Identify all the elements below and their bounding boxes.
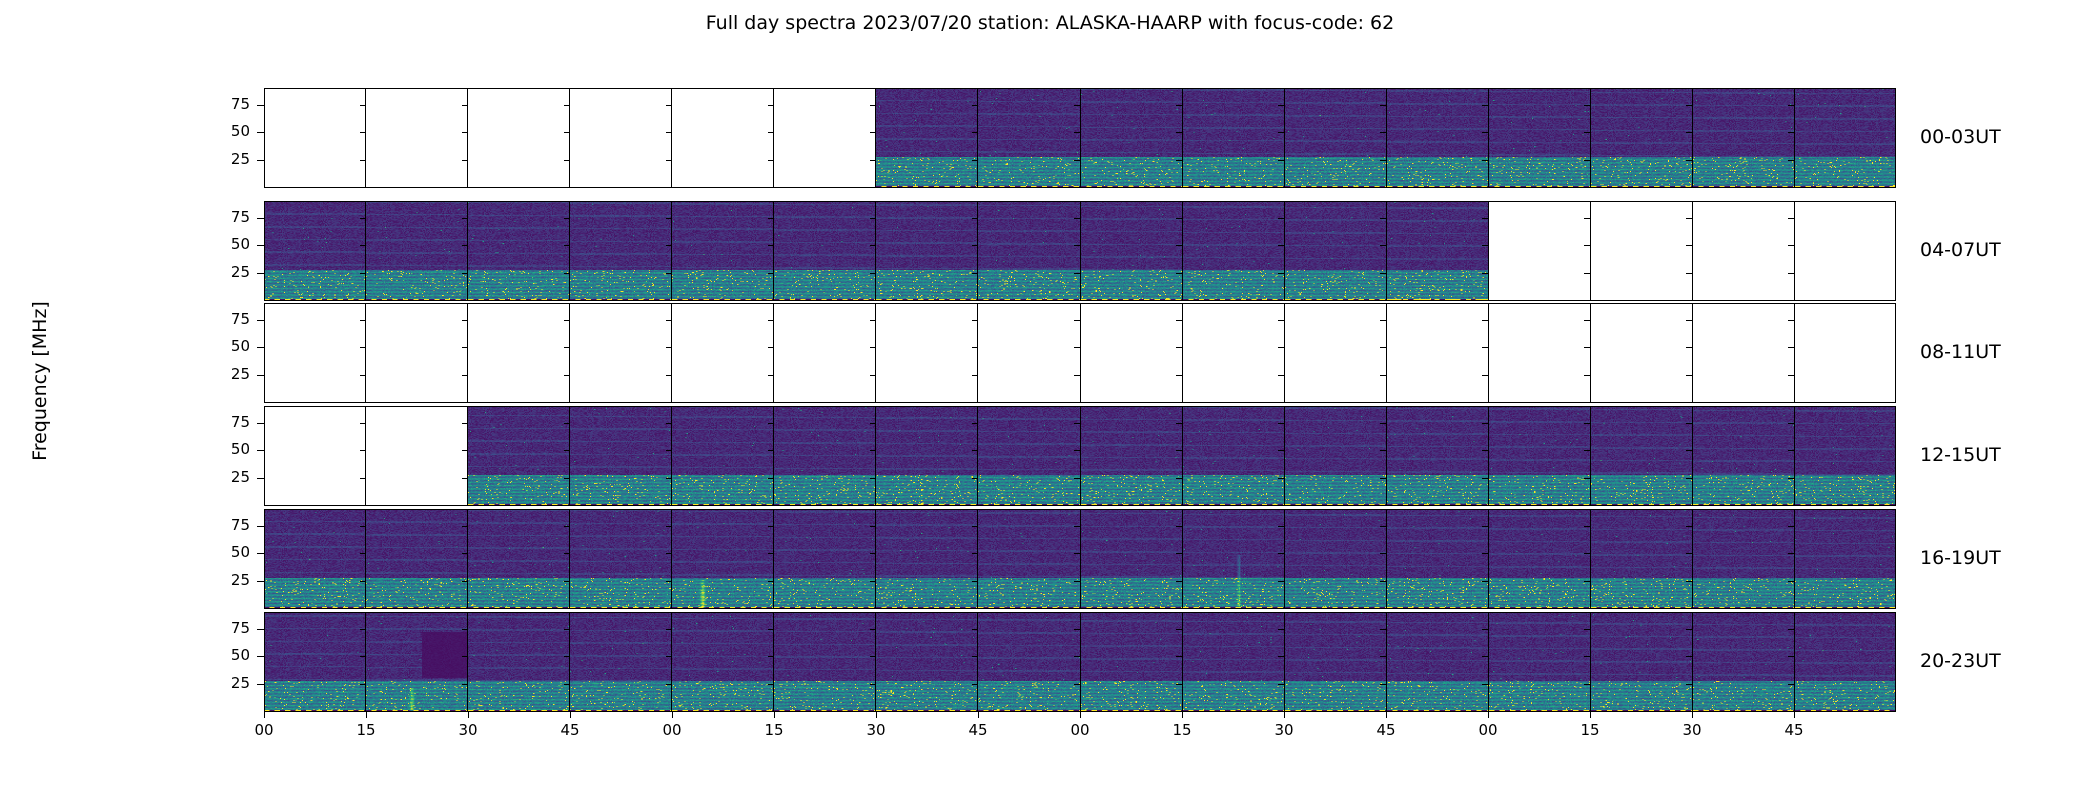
y-tick-mark [257, 684, 264, 685]
spectrogram-panel[interactable] [773, 612, 875, 712]
y-tick-mark-inner [1584, 218, 1590, 219]
y-tick-mark-inner [1278, 684, 1284, 685]
y-axis-label: Frequency [MHz] [29, 251, 51, 511]
y-tick-mark-inner [768, 160, 774, 161]
y-tick-label: 75 [206, 413, 250, 431]
y-tick-mark-inner [870, 320, 876, 321]
y-tick-label: 25 [206, 150, 250, 168]
x-tick-mark [876, 712, 877, 718]
y-tick-label: 50 [206, 122, 250, 140]
y-tick-mark-inner [462, 450, 468, 451]
x-tick-mark [1794, 712, 1795, 718]
y-tick-mark-inner [1380, 526, 1386, 527]
y-tick-label: 50 [206, 646, 250, 664]
x-tick-label: 00 [1478, 721, 1497, 739]
y-tick-mark-inner [360, 320, 366, 321]
y-tick-mark-inner [1074, 218, 1080, 219]
spectrogram-panel[interactable] [467, 509, 569, 609]
y-tick-mark-inner [1380, 160, 1386, 161]
spectrogram-panel[interactable] [1692, 612, 1794, 712]
y-tick-mark-inner [564, 656, 570, 657]
x-tick-label: 15 [356, 721, 375, 739]
y-tick-mark-inner [1074, 160, 1080, 161]
y-tick-mark-inner [870, 629, 876, 630]
spectrogram-panel[interactable] [264, 406, 365, 506]
y-tick-mark-inner [1482, 581, 1488, 582]
spectrogram-panel[interactable] [977, 406, 1079, 506]
y-tick-mark-inner [870, 581, 876, 582]
y-tick-mark-inner [768, 450, 774, 451]
y-tick-mark-inner [870, 218, 876, 219]
y-tick-mark-inner [1278, 347, 1284, 348]
spectrogram-panel[interactable] [1080, 612, 1182, 712]
y-tick-mark-inner [1074, 656, 1080, 657]
y-tick-mark-inner [360, 375, 366, 376]
spectrogram-panel[interactable] [1284, 509, 1386, 609]
y-tick-mark-inner [1686, 132, 1692, 133]
spectrogram-panel[interactable] [1284, 406, 1386, 506]
spectrogram-panel[interactable] [1488, 612, 1590, 712]
y-tick-mark-inner [1482, 320, 1488, 321]
y-tick-mark-inner [564, 581, 570, 582]
y-tick-mark-inner [1380, 218, 1386, 219]
y-tick-mark-inner [1176, 245, 1182, 246]
y-tick-mark-inner [1584, 245, 1590, 246]
y-tick-mark-inner [1686, 347, 1692, 348]
spectrogram-panel[interactable] [875, 303, 977, 403]
x-tick-label: 00 [254, 721, 273, 739]
spectrogram-panel[interactable] [671, 612, 773, 712]
y-tick-mark-inner [1788, 245, 1794, 246]
spectrogram-panel[interactable] [1488, 201, 1590, 301]
spectrogram-panel[interactable] [365, 201, 467, 301]
x-tick-mark [1692, 712, 1693, 718]
spectrogram-panel[interactable] [1080, 509, 1182, 609]
y-tick-mark-inner [972, 684, 978, 685]
spectrogram-panel[interactable] [569, 88, 671, 188]
y-tick-mark-inner [564, 105, 570, 106]
y-tick-mark-inner [1686, 160, 1692, 161]
y-tick-mark-inner [1482, 656, 1488, 657]
spectrogram-panel[interactable] [1590, 509, 1692, 609]
y-tick-mark-inner [1176, 105, 1182, 106]
x-tick-mark [1182, 712, 1183, 718]
y-tick-mark-inner [564, 553, 570, 554]
spectrogram-panel[interactable] [1794, 201, 1896, 301]
spectrogram-panel[interactable] [1080, 201, 1182, 301]
spectrogram-panel[interactable] [1590, 303, 1692, 403]
spectrogram-panel[interactable] [671, 303, 773, 403]
y-tick-mark-inner [1584, 132, 1590, 133]
x-tick-mark [774, 712, 775, 718]
x-tick-mark [1080, 712, 1081, 718]
spectrogram-panel[interactable] [1590, 201, 1692, 301]
y-tick-mark-inner [564, 160, 570, 161]
y-tick-mark-inner [972, 320, 978, 321]
spectrogram-panel[interactable] [1182, 88, 1284, 188]
y-tick-mark-inner [1788, 684, 1794, 685]
y-tick-mark-inner [972, 656, 978, 657]
spectrogram-panel[interactable] [1386, 88, 1488, 188]
y-tick-mark-inner [360, 478, 366, 479]
y-tick-mark-inner [1380, 132, 1386, 133]
y-tick-label: 25 [206, 365, 250, 383]
spectrogram-panel[interactable] [875, 612, 977, 712]
x-tick-mark [1386, 712, 1387, 718]
y-tick-mark-inner [1278, 478, 1284, 479]
row-label: 16-19UT [1920, 547, 2001, 569]
y-tick-mark-inner [1584, 347, 1590, 348]
y-tick-mark-inner [1788, 553, 1794, 554]
y-tick-mark-inner [1482, 629, 1488, 630]
y-tick-mark-inner [462, 629, 468, 630]
spectrogram-panel[interactable] [569, 406, 671, 506]
y-tick-mark-inner [768, 478, 774, 479]
x-tick-mark [468, 712, 469, 718]
x-tick-mark [1284, 712, 1285, 718]
y-tick-mark-inner [1278, 581, 1284, 582]
y-tick-label: 50 [206, 440, 250, 458]
y-tick-mark-inner [1482, 375, 1488, 376]
y-tick-mark-inner [360, 656, 366, 657]
y-tick-mark-inner [1584, 273, 1590, 274]
y-tick-mark-inner [1686, 450, 1692, 451]
spectrogram-panel[interactable] [1182, 509, 1284, 609]
y-tick-mark-inner [1074, 629, 1080, 630]
y-tick-mark-inner [1788, 273, 1794, 274]
spectrogram-row: 255075 [264, 509, 1896, 609]
spectrogram-panel[interactable] [773, 303, 875, 403]
y-tick-mark-inner [1176, 684, 1182, 685]
x-tick-mark [672, 712, 673, 718]
y-tick-mark [257, 478, 264, 479]
spectrogram-panel[interactable] [1692, 509, 1794, 609]
y-tick-mark-inner [1482, 160, 1488, 161]
spectrogram-panel[interactable] [875, 406, 977, 506]
spectrogram-panel[interactable] [569, 303, 671, 403]
y-tick-mark [257, 526, 264, 527]
y-tick-mark-inner [1074, 553, 1080, 554]
y-tick-mark [257, 347, 264, 348]
y-tick-mark-inner [360, 526, 366, 527]
spectrogram-panel[interactable] [1182, 612, 1284, 712]
y-tick-mark [257, 160, 264, 161]
spectrogram-panel[interactable] [671, 509, 773, 609]
y-tick-mark-inner [462, 132, 468, 133]
spectrogram-panel[interactable] [1692, 303, 1794, 403]
y-tick-mark-inner [768, 656, 774, 657]
spectrogram-panel[interactable] [1386, 406, 1488, 506]
y-tick-mark-inner [666, 450, 672, 451]
spectrogram-panel[interactable] [467, 612, 569, 712]
y-tick-mark-inner [1278, 375, 1284, 376]
y-tick-mark-inner [564, 375, 570, 376]
y-tick-mark-inner [1788, 581, 1794, 582]
spectrogram-panel[interactable] [1284, 88, 1386, 188]
spectrogram-panel[interactable] [1080, 406, 1182, 506]
spectrogram-panel[interactable] [1386, 201, 1488, 301]
y-tick-mark [257, 218, 264, 219]
y-tick-mark-inner [1074, 375, 1080, 376]
spectrogram-panel[interactable] [773, 88, 875, 188]
y-tick-mark-inner [360, 553, 366, 554]
y-tick-mark-inner [1278, 526, 1284, 527]
y-tick-mark-inner [870, 273, 876, 274]
spectrogram-panel[interactable] [1692, 88, 1794, 188]
x-tick-label: 15 [1172, 721, 1191, 739]
y-tick-mark-inner [1686, 684, 1692, 685]
y-tick-mark-inner [1278, 629, 1284, 630]
spectrogram-panel[interactable] [773, 406, 875, 506]
y-tick-mark-inner [564, 478, 570, 479]
y-tick-mark-inner [870, 526, 876, 527]
spectrogram-panel[interactable] [1284, 303, 1386, 403]
y-tick-mark-inner [972, 423, 978, 424]
y-tick-mark-inner [1176, 273, 1182, 274]
y-tick-mark-inner [564, 684, 570, 685]
y-tick-label: 75 [206, 95, 250, 113]
panel-strip [264, 509, 1896, 609]
y-tick-mark-inner [360, 581, 366, 582]
spectrogram-panel[interactable] [264, 509, 365, 609]
y-tick-mark-inner [360, 450, 366, 451]
spectrogram-row: 255075 [264, 406, 1896, 506]
y-tick-mark-inner [1176, 375, 1182, 376]
spectrogram-panel[interactable] [1794, 303, 1896, 403]
spectrogram-panel[interactable] [1590, 612, 1692, 712]
y-tick-mark-inner [564, 423, 570, 424]
spectrogram-row: 255075 [264, 303, 1896, 403]
y-tick-mark-inner [1482, 553, 1488, 554]
y-tick-mark-inner [1074, 423, 1080, 424]
y-tick-mark-inner [360, 423, 366, 424]
spectrogram-panel[interactable] [467, 303, 569, 403]
y-tick-mark [257, 375, 264, 376]
spectrogram-panel[interactable] [1692, 201, 1794, 301]
spectrogram-panel[interactable] [977, 612, 1079, 712]
y-tick-mark-inner [462, 218, 468, 219]
y-tick-mark-inner [972, 218, 978, 219]
spectrogram-panel[interactable] [1386, 303, 1488, 403]
spectrogram-panel[interactable] [875, 509, 977, 609]
y-tick-mark-inner [360, 218, 366, 219]
spectrogram-panel[interactable] [977, 303, 1079, 403]
y-tick-mark-inner [564, 273, 570, 274]
spectrogram-panel[interactable] [1182, 303, 1284, 403]
y-tick-mark-inner [768, 684, 774, 685]
spectrogram-panel[interactable] [875, 201, 977, 301]
y-tick-mark-inner [1380, 423, 1386, 424]
spectrogram-panel[interactable] [1590, 88, 1692, 188]
x-tick-label: 45 [968, 721, 987, 739]
y-tick-mark [257, 132, 264, 133]
y-tick-mark-inner [462, 423, 468, 424]
y-tick-mark [257, 105, 264, 106]
y-tick-mark-inner [360, 347, 366, 348]
spectrogram-panel[interactable] [467, 406, 569, 506]
row-label: 04-07UT [1920, 239, 2001, 261]
y-tick-mark-inner [1074, 245, 1080, 246]
y-tick-mark-inner [1584, 375, 1590, 376]
y-tick-mark-inner [462, 553, 468, 554]
y-tick-mark-inner [1482, 423, 1488, 424]
spectrogram-panel[interactable] [1794, 612, 1896, 712]
spectrogram-panel[interactable] [365, 303, 467, 403]
spectrogram-panel[interactable] [977, 88, 1079, 188]
y-tick-mark-inner [1788, 526, 1794, 527]
y-tick-mark-inner [1278, 160, 1284, 161]
spectrogram-panel[interactable] [1488, 88, 1590, 188]
spectrogram-panel[interactable] [1386, 612, 1488, 712]
y-tick-mark-inner [1686, 478, 1692, 479]
y-tick-mark [257, 581, 264, 582]
y-tick-mark-inner [1176, 132, 1182, 133]
y-tick-mark-inner [360, 629, 366, 630]
spectrogram-panel[interactable] [569, 509, 671, 609]
y-tick-mark-inner [462, 581, 468, 582]
spectrogram-panel[interactable] [1488, 303, 1590, 403]
y-tick-mark-inner [1074, 478, 1080, 479]
spectrogram-panel[interactable] [1692, 406, 1794, 506]
y-tick-mark-inner [1278, 553, 1284, 554]
spectrogram-panel[interactable] [365, 509, 467, 609]
spectrogram-panel[interactable] [773, 509, 875, 609]
spectrogram-panel[interactable] [1590, 406, 1692, 506]
spectrogram-panel[interactable] [977, 509, 1079, 609]
y-tick-mark-inner [1584, 629, 1590, 630]
y-tick-mark-inner [564, 526, 570, 527]
spectrogram-panel[interactable] [977, 201, 1079, 301]
y-tick-mark-inner [972, 450, 978, 451]
y-tick-mark [257, 553, 264, 554]
y-tick-mark-inner [1380, 105, 1386, 106]
spectrogram-panel[interactable] [875, 88, 977, 188]
spectrogram-panel[interactable] [1182, 406, 1284, 506]
y-tick-mark-inner [462, 526, 468, 527]
y-tick-label: 25 [206, 468, 250, 486]
y-tick-mark-inner [462, 273, 468, 274]
spectrogram-row: 255075 [264, 612, 1896, 712]
spectrogram-panel[interactable] [671, 88, 773, 188]
spectrogram-figure: Full day spectra 2023/07/20 station: ALA… [0, 0, 2100, 800]
row-label: 12-15UT [1920, 444, 2001, 466]
spectrogram-panel[interactable] [264, 201, 365, 301]
y-tick-mark-inner [1074, 132, 1080, 133]
y-tick-mark-inner [768, 347, 774, 348]
spectrogram-panel[interactable] [365, 612, 467, 712]
spectrogram-panel[interactable] [569, 201, 671, 301]
y-tick-mark-inner [1380, 553, 1386, 554]
y-tick-mark-inner [462, 160, 468, 161]
spectrogram-panel[interactable] [1794, 406, 1896, 506]
spectrogram-panel[interactable] [1182, 201, 1284, 301]
y-tick-mark-inner [1176, 478, 1182, 479]
y-tick-mark-inner [1788, 629, 1794, 630]
y-tick-mark-inner [1482, 245, 1488, 246]
y-tick-mark-inner [1176, 526, 1182, 527]
spectrogram-panel[interactable] [264, 88, 365, 188]
y-tick-mark-inner [1584, 423, 1590, 424]
y-tick-mark-inner [768, 105, 774, 106]
spectrogram-panel[interactable] [1080, 88, 1182, 188]
y-tick-mark-inner [666, 553, 672, 554]
x-tick-mark [978, 712, 979, 718]
spectrogram-panel[interactable] [1386, 509, 1488, 609]
y-tick-label: 75 [206, 310, 250, 328]
y-tick-mark-inner [1686, 375, 1692, 376]
y-tick-label: 50 [206, 543, 250, 561]
spectrogram-panel[interactable] [467, 201, 569, 301]
y-tick-mark-inner [1278, 423, 1284, 424]
spectrogram-panel[interactable] [264, 612, 365, 712]
y-tick-mark-inner [1788, 160, 1794, 161]
y-tick-mark-inner [666, 478, 672, 479]
y-tick-mark-inner [1380, 656, 1386, 657]
spectrogram-panel[interactable] [1284, 201, 1386, 301]
y-tick-mark-inner [870, 245, 876, 246]
y-tick-mark-inner [360, 160, 366, 161]
y-tick-mark-inner [972, 273, 978, 274]
spectrogram-panel[interactable] [264, 303, 365, 403]
spectrogram-panel[interactable] [365, 406, 467, 506]
spectrogram-panel[interactable] [1080, 303, 1182, 403]
y-tick-mark-inner [972, 553, 978, 554]
y-tick-mark-inner [1482, 526, 1488, 527]
y-tick-mark-inner [1482, 218, 1488, 219]
spectrogram-panel[interactable] [1794, 509, 1896, 609]
y-tick-mark-inner [768, 218, 774, 219]
y-tick-label: 25 [206, 263, 250, 281]
spectrogram-panel[interactable] [569, 612, 671, 712]
spectrogram-panel[interactable] [365, 88, 467, 188]
y-tick-mark-inner [1788, 105, 1794, 106]
y-tick-mark-inner [1482, 105, 1488, 106]
spectrogram-panel[interactable] [671, 406, 773, 506]
x-tick-label: 45 [1376, 721, 1395, 739]
spectrogram-row: 255075 [264, 88, 1896, 188]
spectrogram-panel[interactable] [1488, 509, 1590, 609]
y-tick-label: 25 [206, 571, 250, 589]
y-tick-mark-inner [1380, 273, 1386, 274]
y-tick-mark-inner [1788, 450, 1794, 451]
x-tick-label: 15 [764, 721, 783, 739]
x-tick-label: 15 [1580, 721, 1599, 739]
y-tick-mark-inner [1686, 218, 1692, 219]
y-tick-mark-inner [360, 273, 366, 274]
y-tick-mark-inner [462, 684, 468, 685]
x-tick-mark [366, 712, 367, 718]
y-tick-mark-inner [1278, 245, 1284, 246]
spectrogram-row: 255075 [264, 201, 1896, 301]
spectrogram-panel[interactable] [1284, 612, 1386, 712]
y-tick-mark-inner [768, 553, 774, 554]
spectrogram-panel[interactable] [773, 201, 875, 301]
y-tick-mark-inner [1788, 375, 1794, 376]
y-tick-mark-inner [1686, 423, 1692, 424]
spectrogram-panel[interactable] [467, 88, 569, 188]
y-tick-mark-inner [870, 160, 876, 161]
y-tick-mark-inner [870, 450, 876, 451]
spectrogram-panel[interactable] [1794, 88, 1896, 188]
spectrogram-panel[interactable] [671, 201, 773, 301]
y-tick-mark-inner [1788, 347, 1794, 348]
x-tick-label: 30 [1274, 721, 1293, 739]
y-tick-mark-inner [1482, 450, 1488, 451]
y-tick-mark-inner [1584, 105, 1590, 106]
y-tick-mark-inner [564, 629, 570, 630]
y-tick-mark-inner [1176, 581, 1182, 582]
spectrogram-panel[interactable] [1488, 406, 1590, 506]
